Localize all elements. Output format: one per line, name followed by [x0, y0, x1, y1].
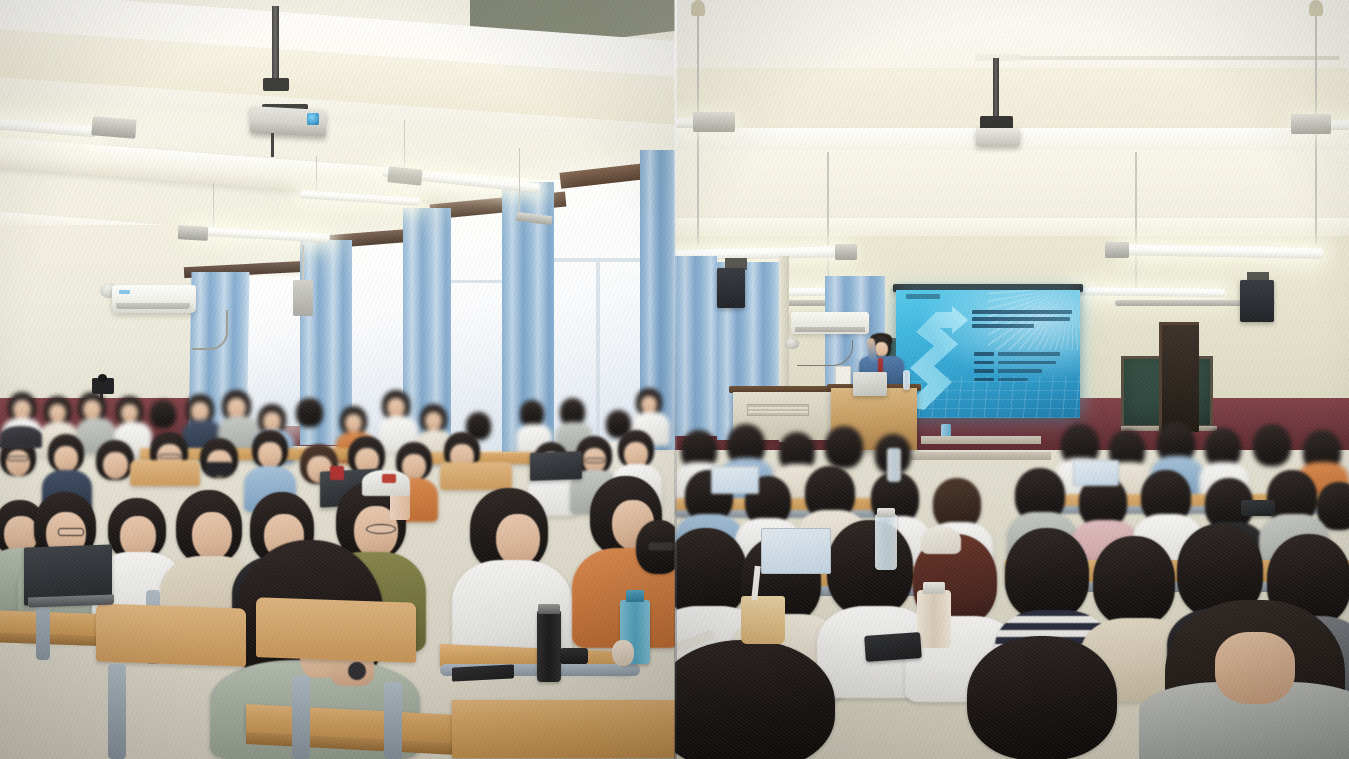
- curtain-1: [675, 256, 717, 436]
- thermos-flask: [537, 610, 561, 682]
- slide-bullet-list: [974, 352, 1070, 386]
- person-head: [1093, 536, 1175, 626]
- water-bottle: [887, 448, 901, 482]
- window-mullion-v: [596, 260, 600, 442]
- doorway: [1159, 322, 1199, 432]
- light-hanger-wire-1: [404, 120, 405, 174]
- person-head: [967, 636, 1117, 759]
- ceiling-cable-conduit: [1020, 56, 1340, 60]
- slide-bullet-row: [974, 378, 1070, 382]
- ceiling-hook: [1309, 0, 1323, 16]
- ceiling-hook: [691, 0, 705, 16]
- desk-frame-post: [108, 664, 126, 759]
- student-desk: [452, 700, 675, 758]
- person-neck: [1215, 632, 1295, 704]
- light-hanger-wire: [1135, 152, 1137, 288]
- panel-right-classroom-rear-view: [675, 0, 1349, 759]
- laptop-icon: [711, 466, 759, 494]
- projector-mount-bracket: [263, 78, 289, 91]
- light-hanger-wire: [827, 152, 829, 290]
- person-head: [1253, 424, 1291, 466]
- bottled-drink: [917, 590, 951, 648]
- person-head: [296, 398, 323, 427]
- smartphone-icon: [864, 632, 922, 662]
- tube-light-housing-1: [91, 116, 136, 138]
- plush-keychain: [612, 640, 634, 666]
- light-hanger-wire-2: [519, 148, 520, 214]
- light-hanger-wire-3: [213, 182, 214, 230]
- person-head: [825, 426, 863, 468]
- projector-mount-pole: [993, 58, 999, 120]
- projector-lens: [307, 113, 319, 125]
- wall-speaker-right: [1240, 280, 1274, 322]
- tube-light-housing-6: [1291, 114, 1331, 134]
- camera-cable: [797, 340, 853, 366]
- tube-light-housing-4: [178, 225, 209, 241]
- video-camera-lens: [98, 374, 107, 382]
- slide-header-text: [906, 294, 940, 299]
- laptop-icon: [761, 528, 831, 574]
- air-conditioner-indicator: [119, 290, 130, 294]
- window-mullion-h2: [450, 280, 504, 283]
- lecturer-face: [875, 342, 888, 357]
- watch-icon: [348, 662, 366, 680]
- glasses-icon: [648, 542, 674, 551]
- desk-frame-post: [384, 682, 402, 759]
- desk-frame-post: [292, 676, 310, 759]
- smartphone-icon: [1241, 500, 1275, 516]
- drink-cap: [923, 582, 945, 594]
- person-head: [827, 520, 913, 616]
- projector-mount-pole: [272, 6, 279, 84]
- panel-left-classroom-front-view: [0, 0, 675, 759]
- av-desk-vent: [747, 404, 809, 416]
- aisle-step: [921, 436, 1041, 444]
- seat-back: [96, 603, 246, 666]
- slide-bullet-row: [974, 352, 1070, 356]
- glasses-icon: [366, 524, 396, 534]
- air-conditioner-vent: [116, 303, 190, 309]
- dome-camera-icon: [785, 338, 799, 349]
- cap-logo: [382, 474, 396, 483]
- seat-back: [130, 460, 200, 486]
- small-thermos: [560, 648, 588, 664]
- podium-laptop-icon: [853, 372, 887, 396]
- tube-light-housing-1: [835, 244, 857, 260]
- light-hanger-wire-4: [316, 156, 317, 196]
- glasses-icon: [7, 456, 29, 461]
- person-head: [520, 400, 544, 427]
- wall-speaker-left: [293, 280, 313, 316]
- hair-claw-clip: [921, 526, 961, 554]
- air-conditioner-vent: [795, 327, 865, 332]
- speaker-bracket-wire: [302, 245, 304, 283]
- aisle-step: [911, 452, 1051, 460]
- tube-light-housing-2: [1105, 242, 1129, 258]
- thermos-cap: [538, 604, 560, 614]
- projection-screen: [896, 290, 1080, 418]
- podium-water-bottle: [903, 370, 910, 390]
- laptop-icon: [530, 451, 582, 481]
- photo-composite: [0, 0, 1349, 759]
- slide-body-text: [972, 310, 1072, 331]
- glasses-icon: [159, 454, 181, 459]
- slide-bullet-row: [974, 369, 1070, 373]
- seat-back: [440, 462, 512, 490]
- bottle-cap: [877, 508, 895, 517]
- person-head: [150, 400, 176, 428]
- ceiling-lower-slab: [675, 150, 1349, 222]
- sticker-icon: [330, 466, 344, 480]
- projector-cable: [271, 133, 274, 157]
- seat-back: [256, 597, 416, 663]
- face-mask-icon: [205, 462, 233, 476]
- bottle-cap: [626, 590, 644, 602]
- person-head: [1005, 528, 1089, 620]
- tube-light-housing-5: [693, 112, 735, 132]
- water-bottle: [875, 514, 897, 570]
- person-head: [675, 528, 747, 618]
- laptop-icon: [1073, 460, 1119, 486]
- tube-light-housing-2: [387, 166, 422, 185]
- milk-tea-cup: [741, 596, 785, 644]
- glasses-icon: [58, 528, 84, 536]
- panel-divider-seam: [674, 0, 677, 759]
- wall-speaker-left: [717, 268, 745, 308]
- slide-bullet-row: [974, 361, 1070, 365]
- glasses-icon: [584, 458, 605, 463]
- ceiling-projector: [976, 128, 1020, 146]
- cap-brim: [0, 444, 36, 448]
- air-conditioner-hose: [192, 310, 228, 350]
